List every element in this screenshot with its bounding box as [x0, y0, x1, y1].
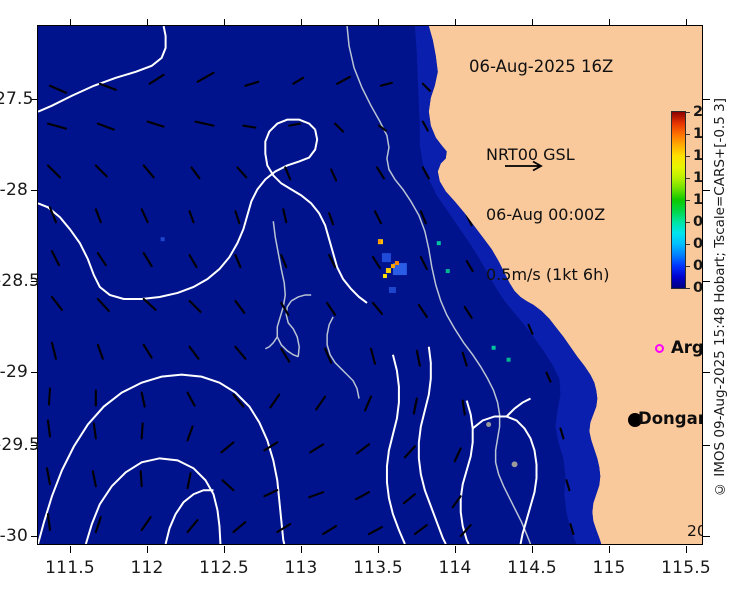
bathy-deep-label: 1000m — [687, 541, 702, 544]
current-legend-time: 06-Aug 00:00Z — [486, 205, 609, 225]
current-legend: NRT00 GSL 06-Aug 00:00Z 0.5m/s (1kt 6h) — [486, 105, 609, 325]
y-tick-label: 27.5 — [0, 89, 28, 109]
map-layers: 06-Aug-2025 16Z NRT00 GSL 06-Aug 00:00Z … — [38, 26, 702, 544]
y-tick-label: -30 — [0, 526, 28, 546]
current-legend-scale: 0.5m/s (1kt 6h) — [486, 265, 609, 285]
colorbar-tick-label: 0.75 — [693, 214, 702, 230]
timestamp-label: 06-Aug-2025 16Z — [469, 57, 613, 76]
x-tick-label: 114 — [438, 558, 471, 578]
dongara-label: Dongara — [638, 409, 702, 428]
bathy-shallow-label: 200m — [687, 522, 702, 541]
colorbar-tick-label: 1 — [693, 192, 702, 208]
y-tick-label: -29 — [0, 362, 28, 382]
credit-text: © IMOS 09-Aug-2025 15:48 Hobart; Tscale=… — [712, 20, 734, 576]
colorbar-tick-label: 1.75 — [693, 126, 702, 142]
argo-label: Argo — [671, 338, 702, 357]
map-plot-area[interactable]: 06-Aug-2025 16Z NRT00 GSL 06-Aug 00:00Z … — [37, 25, 703, 545]
x-tick-label: 115 — [592, 558, 625, 578]
colorbar-tick-label: 0.25 — [693, 258, 702, 274]
x-tick-label: 112 — [130, 558, 163, 578]
bathymetry-legend: 200m 1000m — [687, 522, 702, 544]
x-tick-label: 113.5 — [353, 558, 403, 578]
colorbar-tick-label: 0 — [693, 280, 702, 296]
x-tick-label: 114.5 — [507, 558, 557, 578]
x-tick-label: 112.5 — [199, 558, 249, 578]
arrow-right-icon — [504, 159, 548, 173]
argo-marker-icon[interactable] — [655, 344, 664, 353]
y-tick-label: -28.5 — [0, 271, 28, 291]
colorbar-tick-label: 1.5 — [693, 148, 702, 164]
colorbar-gradient — [671, 111, 686, 289]
x-tick-label: 111.5 — [45, 558, 95, 578]
colorbar-tick-label: 0.5 — [693, 236, 702, 252]
figure-canvas: 06-Aug-2025 16Z NRT00 GSL 06-Aug 00:00Z … — [0, 0, 740, 592]
x-tick-label: 115.5 — [661, 558, 711, 578]
y-tick-label: -29.5 — [0, 435, 28, 455]
y-tick-label: -28 — [0, 180, 28, 200]
x-tick-label: 113 — [284, 558, 317, 578]
colorbar-tick-label: 1.25 — [693, 170, 702, 186]
colorbar-tick-label: 2 — [693, 104, 702, 120]
